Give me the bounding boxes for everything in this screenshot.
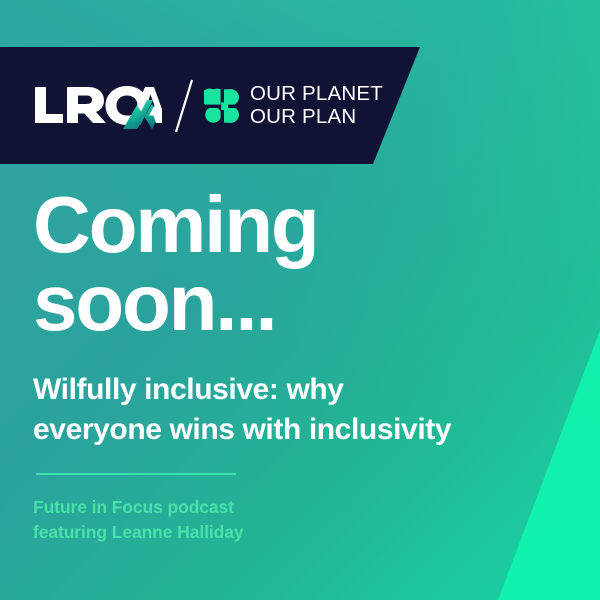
headline-line-1: Coming	[33, 186, 553, 264]
brand-banner-content: OUR PLANET OUR PLAN	[34, 47, 383, 164]
episode-title: Wilfully inclusive: why everyone wins wi…	[33, 370, 563, 450]
page-title: Coming soon...	[33, 186, 553, 343]
subtitle-line-1: Wilfully inclusive: why	[33, 370, 563, 410]
campaign-wordmark: OUR PLANET OUR PLAN	[250, 83, 383, 129]
subtitle-line-2: everyone wins with inclusivity	[33, 410, 563, 450]
divider-rule	[36, 473, 236, 475]
credit-line-1: Future in Focus podcast	[33, 495, 463, 520]
headline-line-2: soon...	[33, 264, 553, 342]
brand-banner: OUR PLANET OUR PLAN	[0, 47, 420, 164]
campaign-line-2: OUR PLAN	[250, 106, 383, 129]
podcast-credit: Future in Focus podcast featuring Leanne…	[33, 495, 463, 545]
campaign-line-1: OUR PLANET	[250, 83, 383, 106]
clover-four-circles-icon	[204, 88, 240, 124]
lrqa-logo	[34, 83, 162, 129]
slash-separator-icon	[170, 76, 200, 136]
podcast-promo-card: OUR PLANET OUR PLAN Coming soon... Wilfu…	[0, 0, 600, 600]
credit-line-2: featuring Leanne Halliday	[33, 520, 463, 545]
